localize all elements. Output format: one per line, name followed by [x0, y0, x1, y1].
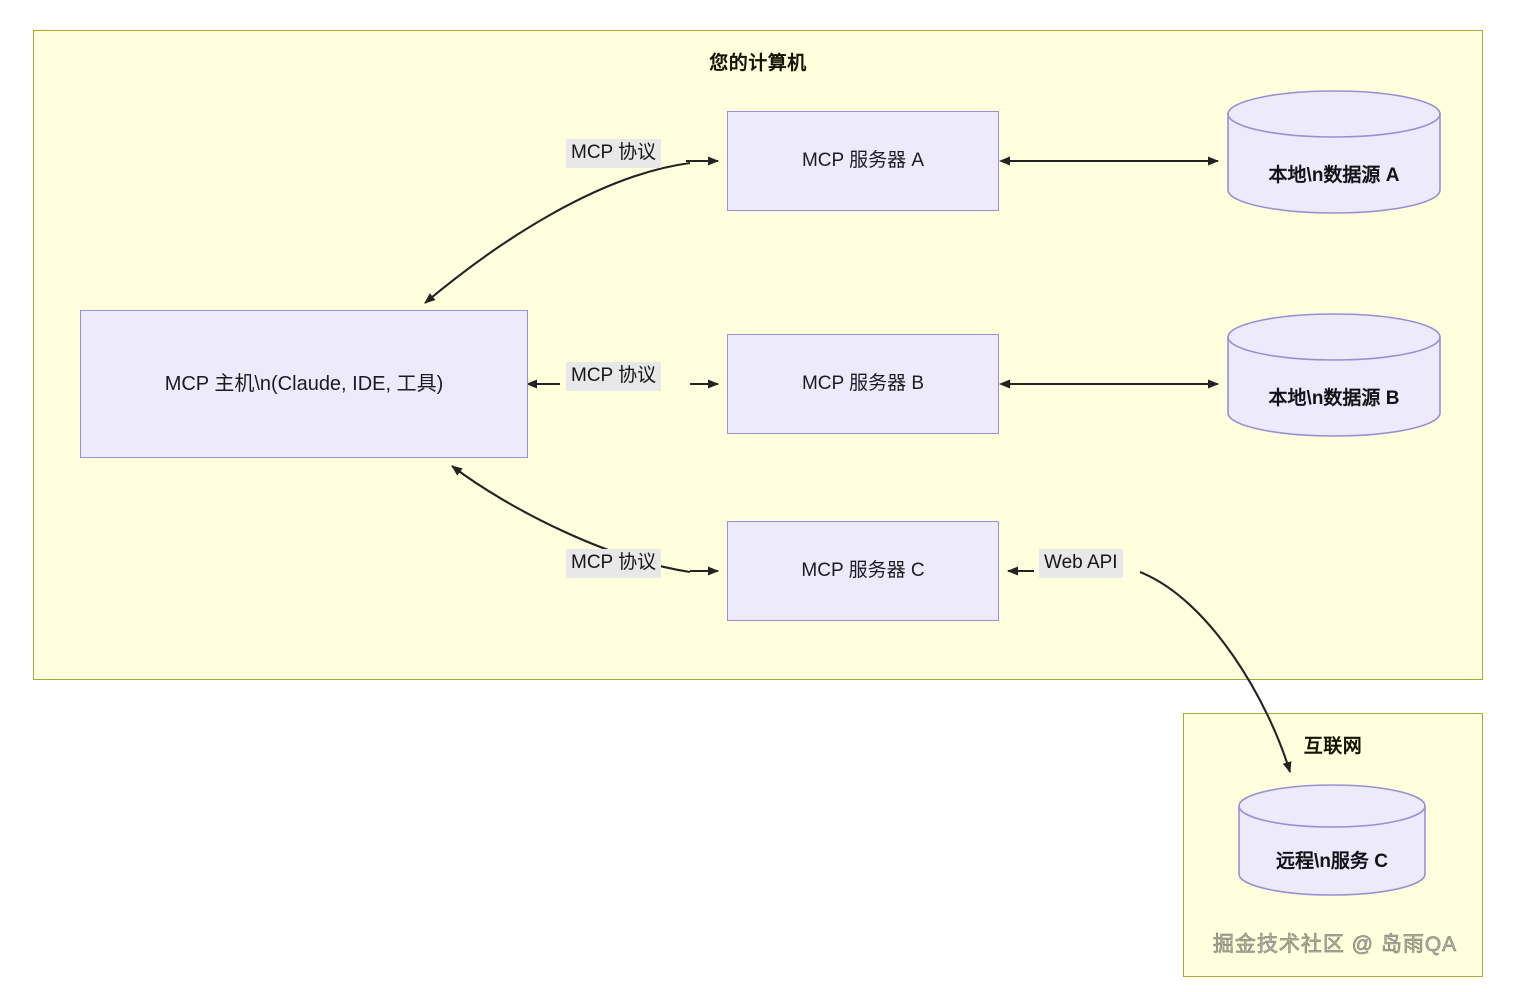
node-mcp-server-b-label: MCP 服务器 B: [802, 370, 924, 398]
node-mcp-server-a[interactable]: MCP 服务器 A: [727, 111, 999, 211]
edge-label-mcp-protocol-a: MCP 协议: [566, 139, 661, 168]
node-mcp-host-label: MCP 主机\n(Claude, IDE, 工具): [165, 370, 444, 399]
node-local-datasource-b-label: 本地\n数据源 B: [1227, 383, 1441, 410]
diagram-canvas: 您的计算机 互联网 MCP: [0, 0, 1518, 992]
node-remote-service-c-label: 远程\n服务 C: [1238, 846, 1426, 873]
cylinder-shape-icon: [1227, 313, 1441, 437]
node-mcp-server-b[interactable]: MCP 服务器 B: [727, 334, 999, 434]
cylinder-shape-icon: [1238, 784, 1426, 896]
watermark-text: 掘金技术社区 @ 岛雨QA: [1190, 928, 1480, 958]
cluster-internet-title: 互联网: [1184, 731, 1482, 758]
edge-label-mcp-protocol-b: MCP 协议: [566, 362, 661, 391]
cluster-your-computer-title: 您的计算机: [34, 48, 1482, 75]
edge-label-web-api: Web API: [1039, 549, 1123, 578]
node-mcp-server-c[interactable]: MCP 服务器 C: [727, 521, 999, 621]
node-local-datasource-a[interactable]: 本地\n数据源 A: [1227, 90, 1441, 214]
edge-label-mcp-protocol-c: MCP 协议: [566, 549, 661, 578]
cylinder-shape-icon: [1227, 90, 1441, 214]
node-local-datasource-b[interactable]: 本地\n数据源 B: [1227, 313, 1441, 437]
node-local-datasource-a-label: 本地\n数据源 A: [1227, 160, 1441, 187]
node-mcp-host[interactable]: MCP 主机\n(Claude, IDE, 工具): [80, 310, 528, 458]
node-mcp-server-a-label: MCP 服务器 A: [802, 147, 924, 175]
node-remote-service-c[interactable]: 远程\n服务 C: [1238, 784, 1426, 896]
node-mcp-server-c-label: MCP 服务器 C: [801, 557, 924, 585]
